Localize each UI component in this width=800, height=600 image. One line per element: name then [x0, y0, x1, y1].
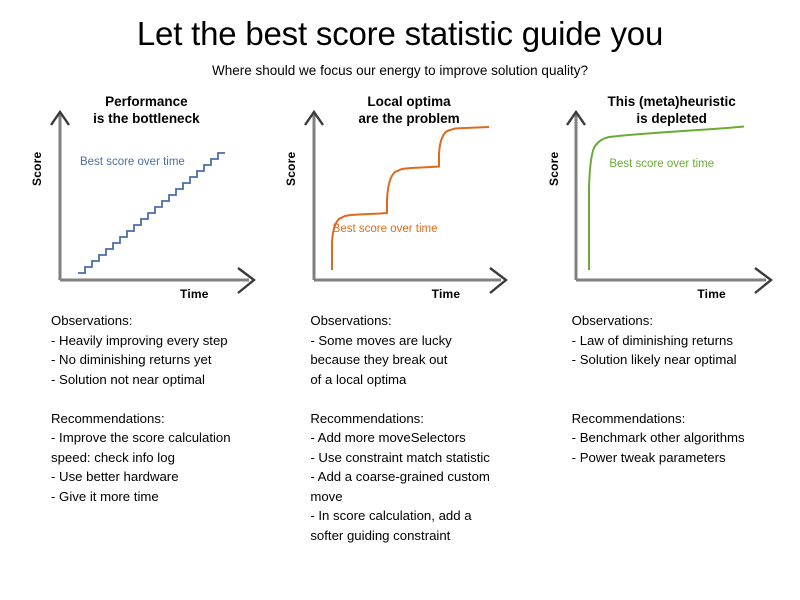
text-column-performance: Observations: - Heavily improving every …	[6, 311, 273, 545]
chart-panel-metaheuristic: This (meta)heuristic is depleted Score T…	[531, 92, 794, 307]
series-label-best-score: Best score over time	[80, 156, 185, 168]
chart-svg-local-optima	[269, 92, 529, 307]
recommendations-heading: Recommendations:	[310, 409, 516, 429]
y-axis-label-score: Score	[284, 152, 298, 186]
recommendation-item: - Benchmark other algorithms	[572, 428, 778, 448]
observation-item: - Solution not near optimal	[51, 370, 257, 390]
recommendation-item: - Add more moveSelectors	[310, 428, 516, 448]
observations-heading: Observations:	[310, 311, 516, 331]
observation-item: - Some moves are lucky	[310, 331, 516, 351]
chart-panel-local-optima: Local optima are the problem Score Time …	[269, 92, 532, 307]
recommendation-item: - Improve the score calculation	[51, 428, 257, 448]
observation-item: - Solution likely near optimal	[572, 350, 778, 370]
series-line-best-score	[589, 127, 744, 271]
page-header: Let the best score statistic guide you W…	[0, 0, 800, 78]
page-title: Let the best score statistic guide you	[0, 16, 800, 52]
page-subtitle: Where should we focus our energy to impr…	[0, 63, 800, 78]
observation-item: - No diminishing returns yet	[51, 350, 257, 370]
recommendation-item-continuation: softer guiding constraint	[310, 526, 516, 546]
observation-item-continuation: because they break out	[310, 350, 516, 370]
observations-heading: Observations:	[572, 311, 778, 331]
text-column-metaheuristic: Observations: - Law of diminishing retur…	[533, 311, 794, 545]
observation-item-continuation: of a local optima	[310, 370, 516, 390]
recommendation-item: - Power tweak parameters	[572, 448, 778, 468]
section-spacer	[572, 370, 778, 390]
observation-item: - Law of diminishing returns	[572, 331, 778, 351]
series-line-best-score	[78, 153, 225, 273]
recommendation-item: - Use better hardware	[51, 467, 257, 487]
recommendation-item-continuation: speed: check info log	[51, 448, 257, 468]
chart-metaheuristic	[531, 92, 794, 307]
y-axis-label-score: Score	[547, 152, 561, 186]
recommendation-item-continuation: move	[310, 487, 516, 507]
recommendation-item: - Use constraint match statistic	[310, 448, 516, 468]
series-label-best-score: Best score over time	[333, 223, 438, 235]
text-column-local-optima: Observations: - Some moves are lucky bec…	[273, 311, 532, 545]
recommendation-item: - Add a coarse-grained custom	[310, 467, 516, 487]
chart-performance	[6, 92, 269, 307]
chart-local-optima	[269, 92, 532, 307]
x-axis-label-time: Time	[697, 287, 726, 301]
section-spacer	[310, 389, 516, 409]
chart-svg-performance	[6, 92, 271, 307]
section-spacer	[51, 389, 257, 409]
recommendation-item: - Give it more time	[51, 487, 257, 507]
y-axis-label-score: Score	[30, 152, 44, 186]
observation-item: - Heavily improving every step	[51, 331, 257, 351]
recommendation-item: - In score calculation, add a	[310, 506, 516, 526]
text-columns-row: Observations: - Heavily improving every …	[0, 311, 800, 545]
chart-panels-row: Performance is the bottleneck Score Time…	[0, 92, 800, 307]
x-axis-label-time: Time	[180, 287, 209, 301]
x-axis-label-time: Time	[432, 287, 461, 301]
chart-svg-metaheuristic	[531, 92, 796, 307]
section-spacer	[572, 389, 778, 409]
series-line-best-score	[332, 127, 489, 270]
recommendations-heading: Recommendations:	[572, 409, 778, 429]
observations-heading: Observations:	[51, 311, 257, 331]
chart-panel-performance: Performance is the bottleneck Score Time…	[6, 92, 269, 307]
series-label-best-score: Best score over time	[609, 158, 714, 170]
recommendations-heading: Recommendations:	[51, 409, 257, 429]
